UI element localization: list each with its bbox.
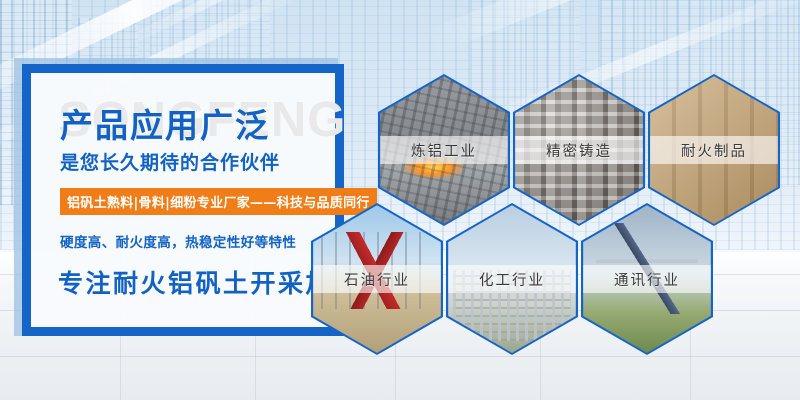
hexagon-label: 炼铝工业 bbox=[411, 140, 477, 161]
hexagon-label: 耐火制品 bbox=[681, 140, 747, 161]
hexagon-label-band: 石油行业 bbox=[313, 265, 441, 293]
hexagon-face: 石油行业 bbox=[313, 205, 441, 353]
hexagon-label-band: 耐火制品 bbox=[650, 136, 778, 164]
hexagon-face: 炼铝工业 bbox=[380, 76, 508, 224]
hexagon-face: 化工行业 bbox=[448, 205, 576, 353]
hexagon-label: 精密铸造 bbox=[546, 140, 612, 161]
feature-text: 硬度高、耐火度高，热稳定性好等特性 bbox=[60, 231, 296, 251]
hexagon-label: 石油行业 bbox=[344, 269, 410, 290]
hexagon-chemical-industry[interactable]: 化工行业 bbox=[446, 203, 578, 355]
hexagon-label-band: 化工行业 bbox=[448, 265, 576, 293]
promotional-banner: SONGFENG 产品应用广泛 是您长久期待的合作伙伴 铝矾土熟料|骨料|细粉专… bbox=[0, 0, 800, 400]
hexagon-label: 化工行业 bbox=[479, 269, 545, 290]
hexagon-label-band: 炼铝工业 bbox=[380, 136, 508, 164]
headline: 产品应用广泛 bbox=[60, 99, 270, 147]
subheadline: 是您长久期待的合作伙伴 bbox=[60, 148, 280, 175]
hexagon-label: 通讯行业 bbox=[614, 269, 680, 290]
hexagon-label-band: 精密铸造 bbox=[515, 136, 643, 164]
hexagon-petroleum-industry[interactable]: 石油行业 bbox=[311, 203, 443, 355]
hexagon-label-band: 通讯行业 bbox=[583, 265, 711, 293]
hexagon-face: 通讯行业 bbox=[583, 205, 711, 353]
hexagon-telecom-industry[interactable]: 通讯行业 bbox=[581, 203, 713, 355]
hexagon-face: 精密铸造 bbox=[515, 76, 643, 224]
hexagon-face: 耐火制品 bbox=[650, 76, 778, 224]
